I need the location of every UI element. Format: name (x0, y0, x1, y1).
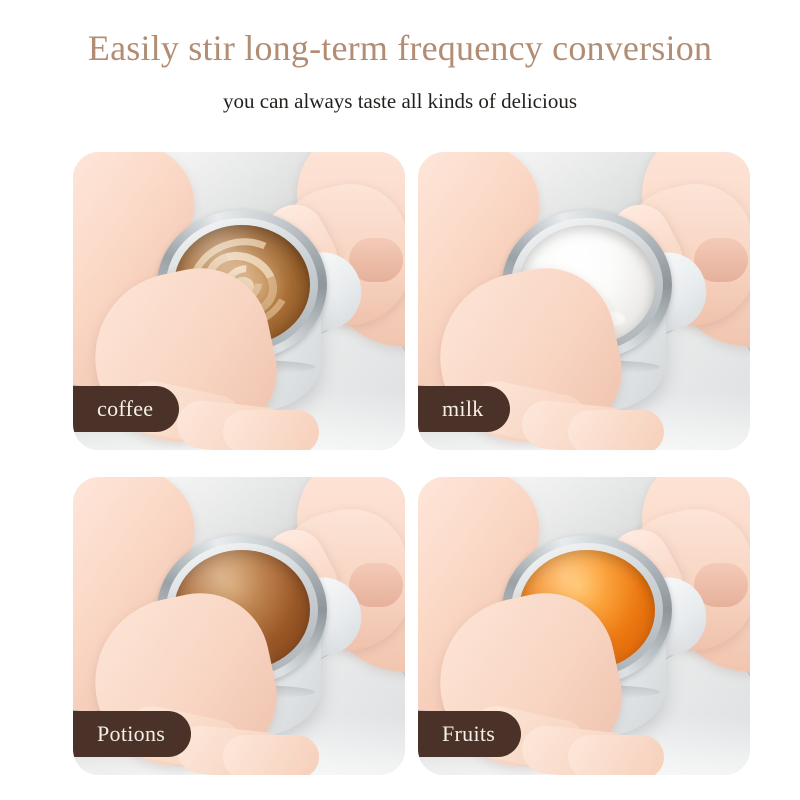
left-finger-3 (568, 735, 664, 775)
left-finger-3 (223, 410, 319, 450)
left-finger-3 (223, 735, 319, 775)
left-finger-3 (568, 410, 664, 450)
beverage-panel-fruits[interactable]: Fruits (418, 477, 750, 775)
beverage-panel-potions[interactable]: Potions (73, 477, 405, 775)
beverage-panel-grid: coffee (73, 152, 750, 775)
beverage-panel-milk[interactable]: milk (418, 152, 750, 450)
panel-label-coffee: coffee (73, 386, 179, 432)
header: Easily stir long-term frequency conversi… (0, 0, 800, 114)
panel-label-milk: milk (418, 386, 510, 432)
page-subtitle: you can always taste all kinds of delici… (0, 88, 800, 114)
panel-label-potions: Potions (73, 711, 191, 757)
panel-label-fruits: Fruits (418, 711, 521, 757)
beverage-panel-coffee[interactable]: coffee (73, 152, 405, 450)
product-showcase-page: Easily stir long-term frequency conversi… (0, 0, 800, 800)
page-title: Easily stir long-term frequency conversi… (0, 26, 800, 70)
